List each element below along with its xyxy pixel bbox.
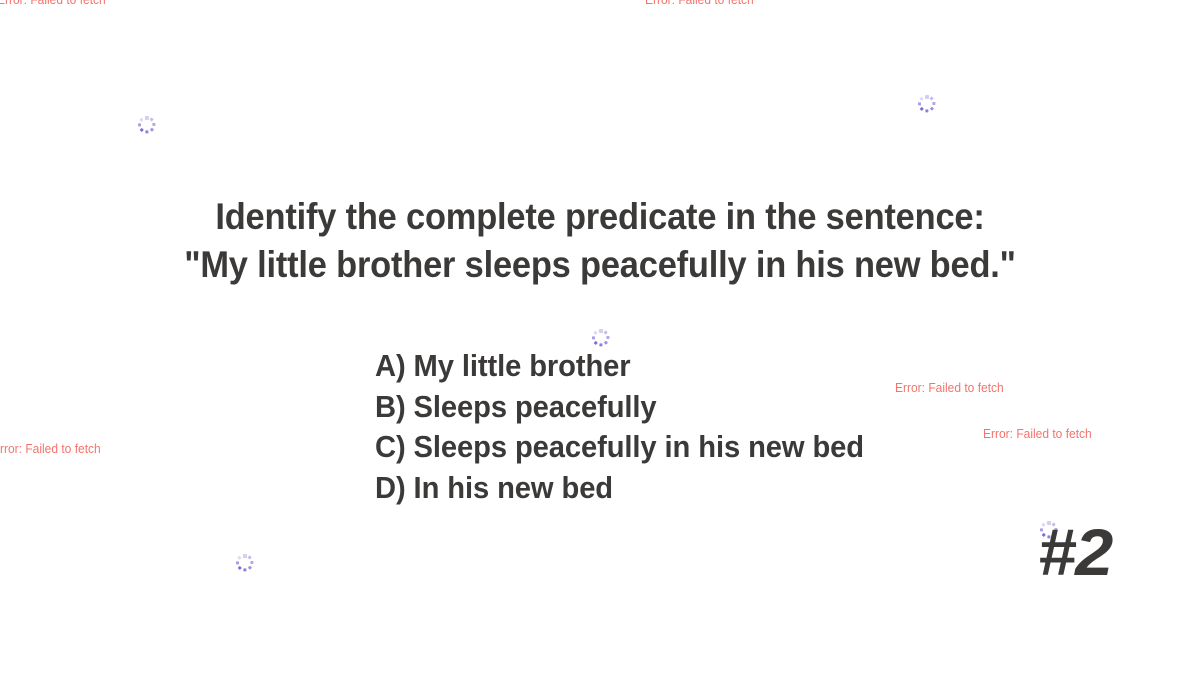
error-message: Error: Failed to fetch: [0, 0, 106, 8]
spinner-dot: [138, 123, 141, 126]
spinner-dot: [238, 566, 243, 571]
spinner-dot: [599, 343, 602, 346]
spinner-dot: [145, 116, 148, 119]
spinner-dot: [152, 123, 155, 126]
spinner-dot: [932, 102, 935, 105]
spinner-dot: [592, 336, 595, 339]
spinner-dot: [606, 336, 609, 339]
spinner-dot: [238, 556, 243, 561]
error-message: Error: Failed to fetch: [895, 381, 1004, 396]
spinner-dot: [150, 128, 155, 133]
spinner-dot: [594, 341, 599, 346]
error-message: Error: Failed to fetch: [983, 427, 1092, 442]
answer-options-list: A) My little brother B) Sleeps peacefull…: [375, 346, 1033, 509]
spinner-dot: [920, 97, 925, 102]
spinner-dot: [925, 95, 928, 98]
slide-canvas: Identify the complete predicate in the s…: [0, 0, 1200, 675]
loading-spinner-top-left: [138, 116, 156, 134]
spinner-dot: [150, 118, 155, 123]
spinner-dot: [930, 107, 935, 112]
question-number-badge: #2: [1038, 519, 1112, 585]
answer-option-d[interactable]: D) In his new bed: [375, 468, 1033, 509]
spinner-dot: [920, 107, 925, 112]
spinner-dot: [594, 331, 599, 336]
loading-spinner-bottom-left: [236, 554, 254, 572]
spinner-dot: [140, 118, 145, 123]
spinner-dot: [604, 341, 609, 346]
spinner-dot: [250, 561, 253, 564]
loading-spinner-top-right: [918, 95, 936, 113]
spinner-dot: [918, 102, 921, 105]
spinner-dot: [248, 556, 253, 561]
spinner-dot: [248, 566, 253, 571]
loading-spinner-center: [592, 329, 610, 347]
spinner-dot: [925, 109, 928, 112]
spinner-dot: [243, 568, 246, 571]
answer-option-c[interactable]: C) Sleeps peacefully in his new bed: [375, 427, 1033, 468]
question-text: Identify the complete predicate in the s…: [42, 193, 1158, 289]
error-message: Error: Failed to fetch: [645, 0, 754, 8]
spinner-dot: [930, 97, 935, 102]
spinner-dot: [243, 554, 246, 557]
spinner-dot: [140, 128, 145, 133]
spinner-dot: [604, 331, 609, 336]
error-message: Error: Failed to fetch: [0, 442, 101, 457]
spinner-dot: [236, 561, 239, 564]
spinner-dot: [145, 130, 148, 133]
spinner-dot: [599, 329, 602, 332]
